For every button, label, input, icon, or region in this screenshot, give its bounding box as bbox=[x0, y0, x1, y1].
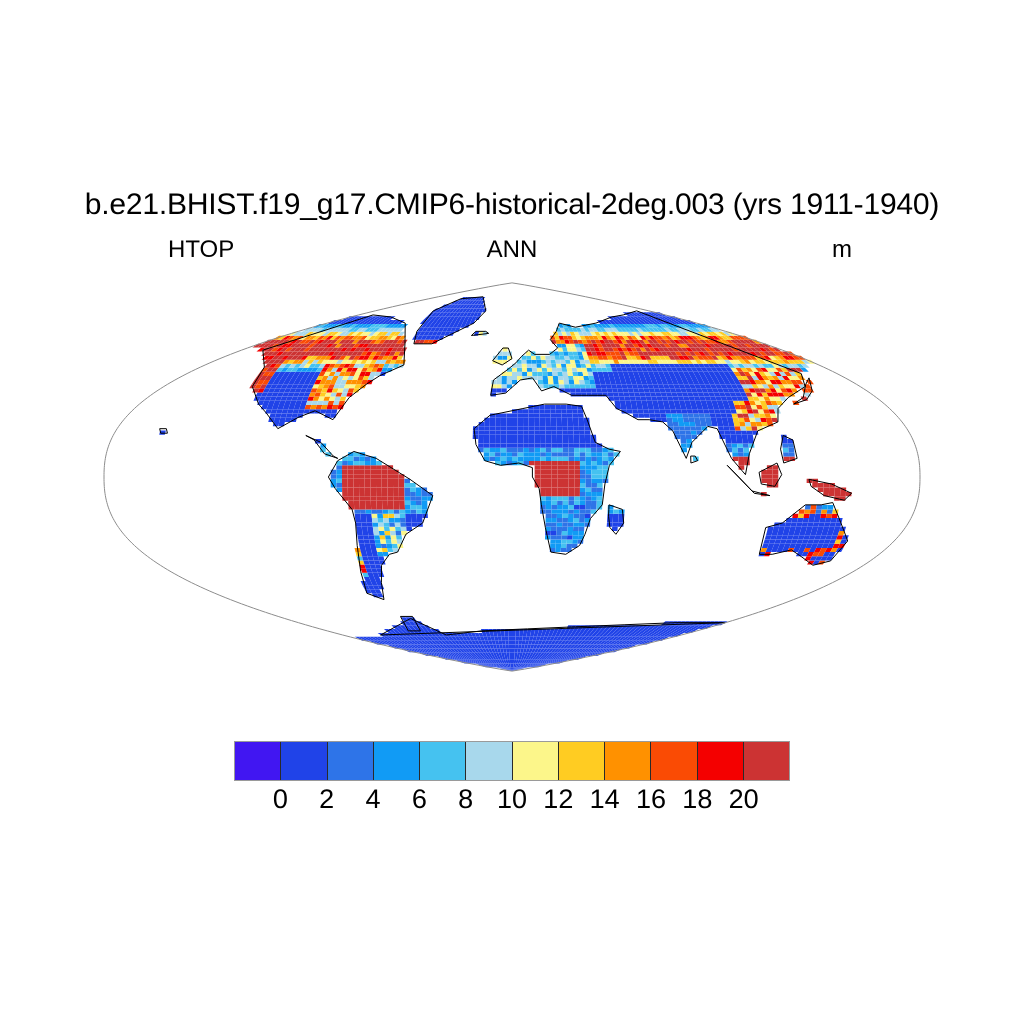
colorbar-tick-4: 4 bbox=[365, 784, 380, 815]
colorbar-band-11 bbox=[744, 742, 789, 780]
colorbar-band-1 bbox=[281, 742, 327, 780]
colorbar-tick-0: 0 bbox=[273, 784, 288, 815]
colorbar-tick-labels: 02468101214161820 bbox=[234, 784, 790, 818]
units-label: m bbox=[832, 236, 852, 264]
page-title: b.e21.BHIST.f19_g17.CMIP6-historical-2de… bbox=[0, 188, 1024, 222]
colorbar-band-6 bbox=[513, 742, 559, 780]
colorbar-tick-20: 20 bbox=[729, 784, 759, 815]
colorbar-band-7 bbox=[559, 742, 605, 780]
colorbar-tick-2: 2 bbox=[319, 784, 334, 815]
colorbar-band-2 bbox=[328, 742, 374, 780]
season-label: ANN bbox=[0, 236, 1024, 264]
colorbar-band-8 bbox=[605, 742, 651, 780]
colorbar-tick-8: 8 bbox=[458, 784, 473, 815]
colorbar-band-4 bbox=[420, 742, 466, 780]
colorbar-tick-14: 14 bbox=[590, 784, 620, 815]
colorbar-tick-18: 18 bbox=[682, 784, 712, 815]
map-heatmap-canvas bbox=[100, 262, 924, 692]
figure-canvas: b.e21.BHIST.f19_g17.CMIP6-historical-2de… bbox=[0, 0, 1024, 1024]
colorbar-band-10 bbox=[698, 742, 744, 780]
colorbar-band-9 bbox=[651, 742, 697, 780]
colorbar-band-0 bbox=[235, 742, 281, 780]
colorbar-band-3 bbox=[374, 742, 420, 780]
colorbar-tick-10: 10 bbox=[497, 784, 527, 815]
colorbar-tick-12: 12 bbox=[543, 784, 573, 815]
colorbar-tick-6: 6 bbox=[412, 784, 427, 815]
subtitle-row: HTOP ANN m bbox=[0, 236, 1024, 264]
colorbar-bands bbox=[234, 741, 790, 781]
colorbar-band-5 bbox=[466, 742, 512, 780]
map-plot bbox=[100, 262, 924, 692]
colorbar-tick-16: 16 bbox=[636, 784, 666, 815]
colorbar bbox=[234, 741, 790, 781]
